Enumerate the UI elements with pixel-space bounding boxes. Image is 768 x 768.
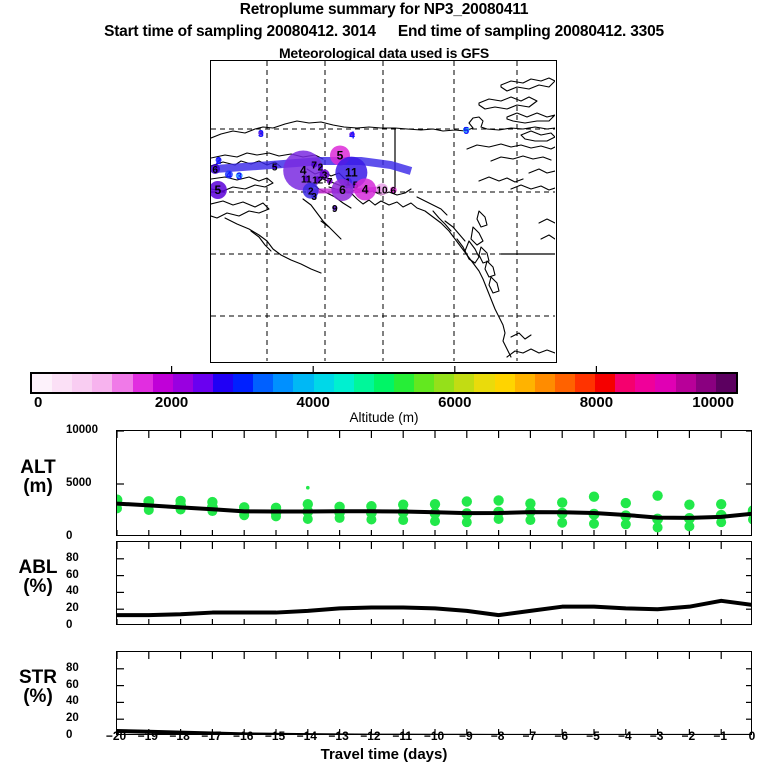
x-tick-label: −16 bbox=[233, 729, 253, 743]
x-tick-label: −13 bbox=[328, 729, 348, 743]
x-tick-label: −15 bbox=[265, 729, 285, 743]
x-tick-label: −9 bbox=[459, 729, 473, 743]
x-tick-label: −7 bbox=[523, 729, 537, 743]
x-tick-label: −10 bbox=[424, 729, 444, 743]
x-tick-label: −12 bbox=[360, 729, 380, 743]
x-tick-label: −1 bbox=[713, 729, 727, 743]
x-tick-label: −20 bbox=[106, 729, 126, 743]
x-tick-label: −18 bbox=[169, 729, 189, 743]
x-tick-label: −2 bbox=[682, 729, 696, 743]
x-tick-label: −14 bbox=[297, 729, 317, 743]
x-tick-label: 0 bbox=[749, 729, 756, 743]
x-tick-label: −6 bbox=[554, 729, 568, 743]
x-tick-label: −5 bbox=[586, 729, 600, 743]
x-axis-title: Travel time (days) bbox=[0, 746, 768, 763]
x-tick-label: −4 bbox=[618, 729, 632, 743]
x-tick-label: −11 bbox=[392, 729, 412, 743]
x-tick-label: −19 bbox=[138, 729, 158, 743]
x-tick-label: −3 bbox=[650, 729, 664, 743]
x-tick-label: −17 bbox=[201, 729, 221, 743]
x-tick-label: −8 bbox=[491, 729, 505, 743]
x-tick-labels: −20−19−18−17−16−15−14−13−12−11−10−9−8−7−… bbox=[0, 0, 768, 768]
